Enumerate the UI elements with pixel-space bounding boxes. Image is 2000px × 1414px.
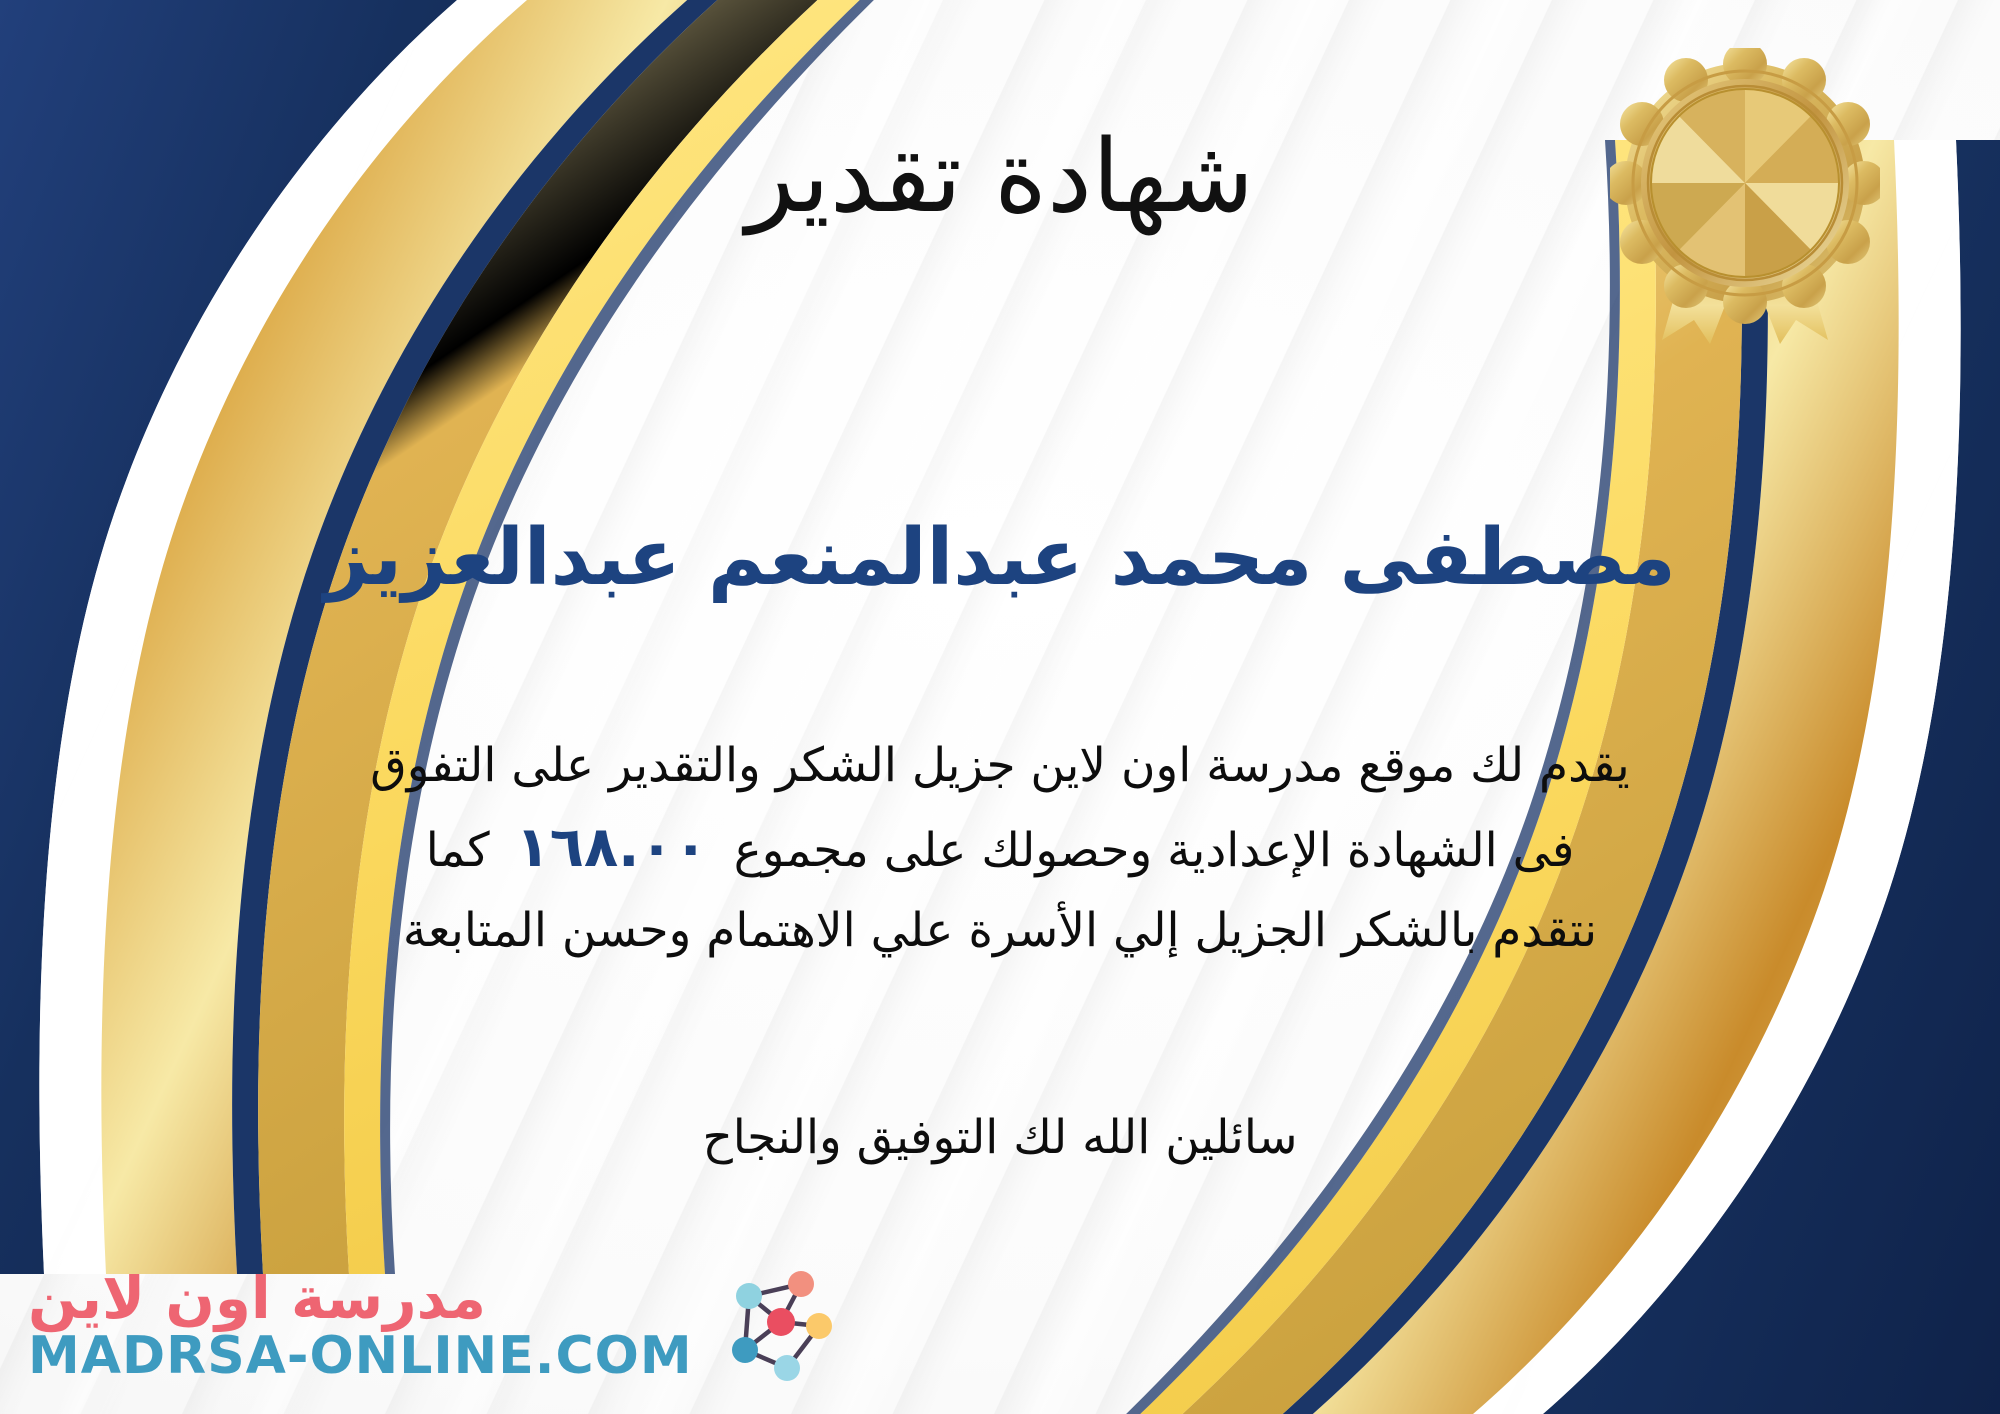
molecule-network-icon	[709, 1260, 841, 1392]
logo-wordmark: مدرسة اون لاين MADRSA-ONLINE.COM	[28, 1268, 693, 1383]
certificate-canvas: شهادة تقدير مصطفى محمد عبدالمنعم عبدالعز…	[0, 0, 2000, 1414]
site-logo[interactable]: مدرسة اون لاين MADRSA-ONLINE.COM	[28, 1260, 841, 1392]
logo-english-text: MADRSA-ONLINE.COM	[28, 1329, 693, 1384]
body-line-1: يقدم لك موقع مدرسة اون لاين جزيل الشكر و…	[150, 728, 1850, 803]
logo-arabic-text: مدرسة اون لاين	[28, 1268, 486, 1329]
certificate-body: يقدم لك موقع مدرسة اون لاين جزيل الشكر و…	[150, 728, 1850, 968]
recipient-name: مصطفى محمد عبدالمنعم عبدالعزيز	[0, 512, 2000, 606]
closing-wish: سائلين الله لك التوفيق والنجاح	[0, 1105, 2000, 1171]
body-line-2: فى الشهادة الإعدادية وحصولك على مجموع١٦٨…	[150, 803, 1850, 893]
body-line-2-after: كما	[426, 823, 490, 878]
body-line-2-before: فى الشهادة الإعدادية وحصولك على مجموع	[734, 823, 1575, 878]
page-title: شهادة تقدير	[0, 120, 2000, 233]
body-line-3: نتقدم بالشكر الجزيل إلي الأسرة علي الاهت…	[150, 893, 1850, 968]
score-value: ١٦٨.٠٠	[490, 815, 734, 880]
